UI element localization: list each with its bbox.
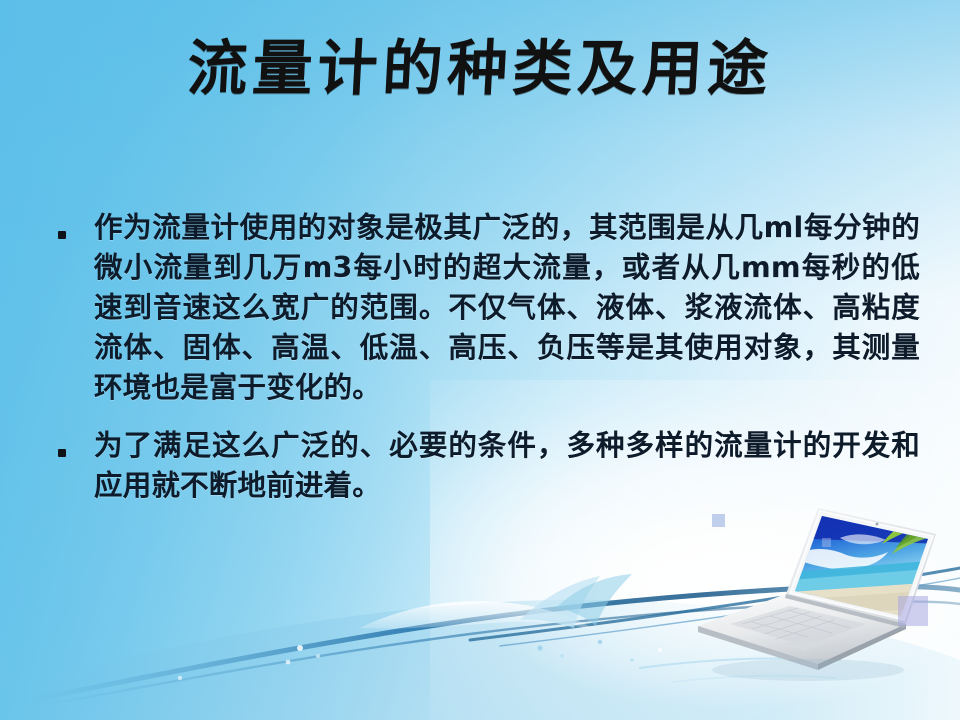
slide-title: 流量计的种类及用途 <box>0 38 960 101</box>
square-bullet-icon <box>58 449 66 457</box>
bullet-marker <box>48 426 94 461</box>
deco-square-tiny-mid <box>822 538 831 547</box>
bullet-marker <box>48 208 94 243</box>
slide-canvas: 流量计的种类及用途 作为流量计使用的对象是极其广泛的，其范围是从几ml每分钟的微… <box>0 0 960 720</box>
bullet-text-1: 作为流量计使用的对象是极其广泛的，其范围是从几ml每分钟的微小流量到几万m3每小… <box>94 208 920 408</box>
slide-body: 作为流量计使用的对象是极其广泛的，其范围是从几ml每分钟的微小流量到几万m3每小… <box>48 208 920 524</box>
deco-square-large-right <box>898 596 928 626</box>
list-item: 作为流量计使用的对象是极其广泛的，其范围是从几ml每分钟的微小流量到几万m3每小… <box>48 208 920 408</box>
list-item: 为了满足这么广泛的、必要的条件，多种多样的流量计的开发和应用就不断地前进着。 <box>48 426 920 506</box>
bullet-text-2: 为了满足这么广泛的、必要的条件，多种多样的流量计的开发和应用就不断地前进着。 <box>94 426 920 506</box>
laptop-illustration <box>690 498 940 688</box>
square-bullet-icon <box>58 231 66 239</box>
